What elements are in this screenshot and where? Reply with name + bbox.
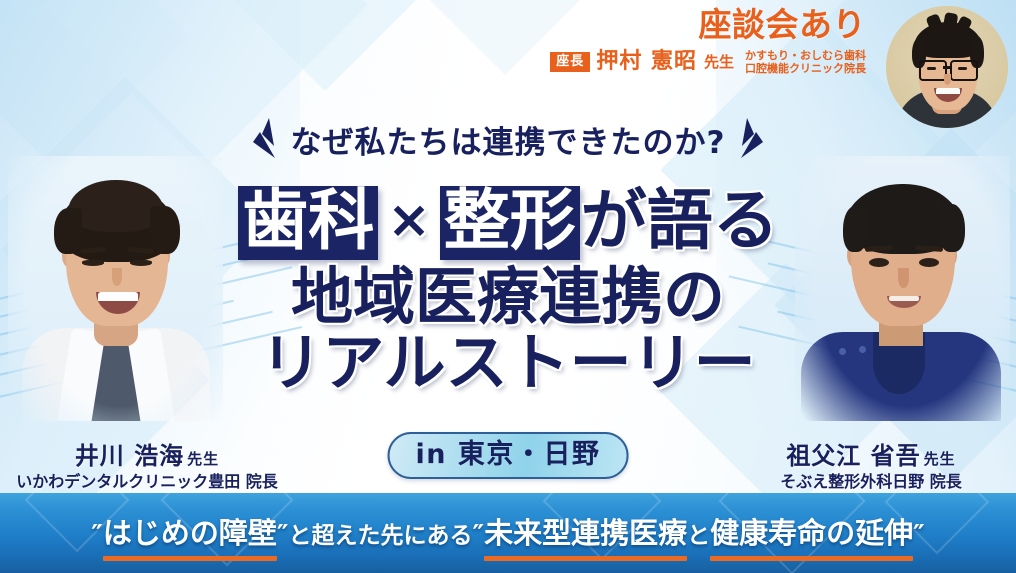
quote-open-2: ″ <box>472 520 484 550</box>
title-cross-icon: × <box>379 194 439 246</box>
slash-left-icon <box>247 116 277 162</box>
title-line-3: リアルストーリー <box>0 332 1016 394</box>
chair-clinic-line1: かすもり・おしむら歯科 <box>745 49 866 62</box>
quote-close-1: ″ <box>277 520 289 550</box>
doctor-right-honorific: 先生 <box>924 450 956 468</box>
title-line-1-tail: が語る <box>581 182 779 259</box>
title-line-2: 地域医療連携の <box>0 266 1016 328</box>
bottom-segment-2: 未来型連携医療 <box>484 510 687 552</box>
chair-name: 押村 憲昭 <box>596 51 697 73</box>
bottom-segment-1: はじめの障壁 <box>103 510 277 552</box>
chair-info-block: 座談会あり 座長 押村 憲昭 先生 かすもり・おしむら歯科 口腔機能クリニック院… <box>550 8 866 76</box>
doctor-left-clinic: いかわデンタルクリニック豊田 院長 <box>4 473 290 491</box>
title-box-seikei: 整形 <box>440 186 580 260</box>
chair-clinic-line2: 口腔機能クリニック院長 <box>745 62 866 75</box>
slash-right-icon <box>739 116 769 162</box>
seminar-promo-banner: 座談会あり 座長 押村 憲昭 先生 かすもり・おしむら歯科 口腔機能クリニック院… <box>0 0 1016 573</box>
doctor-right-name: 祖父江 省吾 <box>786 442 920 470</box>
bottom-banner-inner: ″はじめの障壁″と超えた先にある″未来型連携医療と健康寿命の延伸″ <box>0 493 1016 573</box>
doctor-caption-right: 祖父江 省吾先生 そぶえ整形外科日野 院長 <box>728 443 1014 491</box>
quote-open-1: ″ <box>91 520 103 550</box>
quote-close-2: ″ <box>913 520 925 550</box>
bottom-segment-3: 健康寿命の延伸 <box>710 510 913 552</box>
chair-honorific: 先生 <box>704 55 734 70</box>
doctor-caption-left: 井川 浩海先生 いかわデンタルクリニック豊田 院長 <box>4 443 290 491</box>
doctor-left-name-row: 井川 浩海先生 <box>4 443 290 470</box>
doctor-right-clinic: そぶえ整形外科日野 院長 <box>728 473 1014 491</box>
subtitle-row: なぜ私たちは連携できたのか? <box>0 116 1016 162</box>
doctor-left-honorific: 先生 <box>187 450 219 468</box>
chair-name-row: 座長 押村 憲昭 先生 かすもり・おしむら歯科 口腔機能クリニック院長 <box>550 49 866 76</box>
title-box-shika: 歯科 <box>238 186 378 260</box>
bottom-banner-text: ″はじめの障壁″と超えた先にある″未来型連携医療と健康寿命の延伸″ <box>91 510 925 552</box>
place-badge: in 東京・日野 <box>388 432 629 479</box>
zadankai-headline: 座談会あり <box>550 8 866 41</box>
title-line-1: 歯科×整形が語る <box>0 186 1016 260</box>
subtitle-text: なぜ私たちは連携できたのか? <box>291 117 726 162</box>
main-title: 歯科×整形が語る 地域医療連携の リアルストーリー <box>0 186 1016 394</box>
doctor-right-name-row: 祖父江 省吾先生 <box>728 443 1014 470</box>
bottom-banner: ″はじめの障壁″と超えた先にある″未来型連携医療と健康寿命の延伸″ <box>0 493 1016 573</box>
chair-portrait-photo <box>886 6 1008 128</box>
bottom-connector: と <box>687 523 710 549</box>
chair-badge: 座長 <box>550 52 590 72</box>
chair-clinic: かすもり・おしむら歯科 口腔機能クリニック院長 <box>745 49 866 76</box>
bottom-middle-text: と超えた先にある <box>288 523 472 549</box>
place-badge-text: in 東京・日野 <box>416 441 601 468</box>
doctor-left-name: 井川 浩海 <box>75 442 184 470</box>
